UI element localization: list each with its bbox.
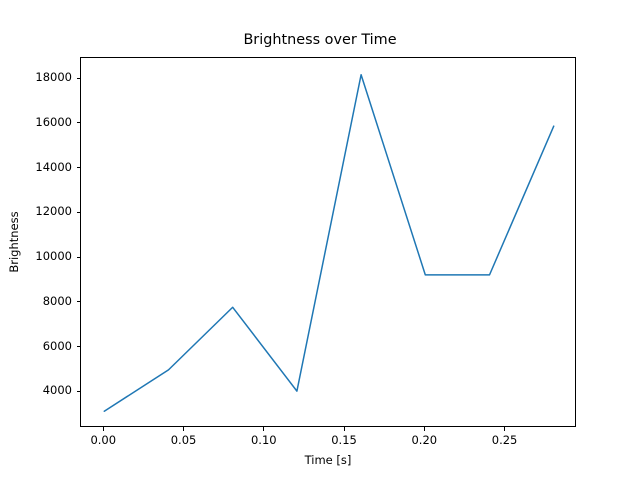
y-tick-label: 18000 [0,70,72,84]
y-tick-mark [77,212,81,213]
plot-axes-area [80,57,576,427]
figure-canvas: Brightness over Time 0.000.050.100.150.2… [0,0,640,480]
x-tick-mark [183,427,184,431]
y-tick-mark [77,122,81,123]
y-tick-label: 4000 [0,383,72,397]
x-tick-label: 0.05 [154,433,214,447]
x-tick-mark [103,427,104,431]
y-tick-mark [77,257,81,258]
x-tick-mark [504,427,505,431]
x-tick-label: 0.20 [394,433,454,447]
y-axis-label: Brightness [7,162,21,322]
brightness-series-line [104,75,553,411]
y-tick-mark [77,78,81,79]
x-tick-label: 0.15 [314,433,374,447]
x-tick-mark [344,427,345,431]
x-tick-mark [263,427,264,431]
x-tick-label: 0.25 [475,433,535,447]
chart-title: Brightness over Time [0,32,640,49]
line-chart-svg [81,58,577,428]
y-tick-mark [77,391,81,392]
y-tick-mark [77,346,81,347]
x-tick-mark [424,427,425,431]
x-tick-label: 0.10 [234,433,294,447]
y-tick-mark [77,167,81,168]
x-tick-label: 0.00 [73,433,133,447]
x-axis-label: Time [s] [80,453,576,467]
y-tick-label: 6000 [0,339,72,353]
y-tick-label: 16000 [0,115,72,129]
y-tick-mark [77,301,81,302]
